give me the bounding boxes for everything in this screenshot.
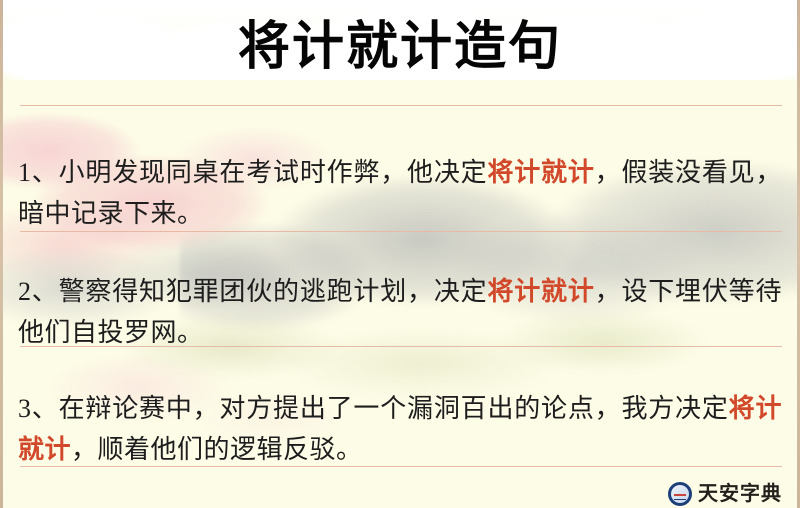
sentence-2-text-before: 警察得知犯罪团伙的逃跑计划，决定 [59,277,488,306]
sentence-1-idiom: 将计就计 [487,158,594,187]
sentence-3-marker: 3、 [18,394,59,423]
divider-3 [20,346,782,347]
sentence-3-text-before: 在辩论赛中，对方提出了一个漏洞百出的论点，我方决定 [59,394,729,423]
sentence-2-idiom: 将计就计 [487,277,594,306]
example-sentence-2: 2、警察得知犯罪团伙的逃跑计划，决定将计就计，设下埋伏等待他们自投罗网。 [18,271,782,353]
page-content: 将计就计造句 1、小明发现同桌在考试时作弊，他决定将计就计，假装没看见，暗中记录… [0,0,800,508]
sentence-1-text-before: 小明发现同桌在考试时作弊，他决定 [59,158,488,187]
example-sentence-3: 3、在辩论赛中，对方提出了一个漏洞百出的论点，我方决定将计就计，顺着他们的逻辑反… [18,388,782,470]
example-sentence-1: 1、小明发现同桌在考试时作弊，他决定将计就计，假装没看见，暗中记录下来。 [18,152,782,234]
divider-1 [20,105,782,106]
page-title: 将计就计造句 [0,16,800,80]
page-root: 将计就计造句 1、小明发现同桌在考试时作弊，他决定将计就计，假装没看见，暗中记录… [0,0,800,508]
divider-2 [20,231,782,232]
divider-4 [20,466,782,467]
seal-logo-icon [668,482,692,506]
sentence-1-marker: 1、 [18,158,59,187]
sentence-3-text-after: ，顺着他们的逻辑反驳。 [71,435,363,464]
footer-branding: 天安字典 [668,482,782,506]
sentence-2-marker: 2、 [18,277,59,306]
brand-name-label: 天安字典 [698,482,782,506]
